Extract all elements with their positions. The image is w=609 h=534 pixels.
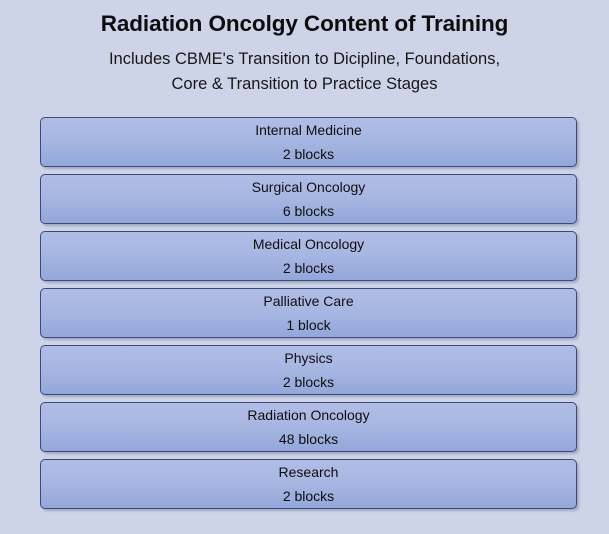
rotation-name: Radiation Oncology [247, 405, 369, 425]
rotation-bar-radiation-oncology: Radiation Oncology 48 blocks [40, 402, 577, 452]
rotation-name: Surgical Oncology [252, 177, 366, 197]
rotation-blocks: 2 blocks [283, 372, 334, 392]
rotation-blocks: 48 blocks [279, 429, 338, 449]
rotation-blocks: 1 block [286, 315, 330, 335]
subtitle-line-2: Core & Transition to Practice Stages [0, 72, 609, 97]
subtitle-line-1: Includes CBME's Transition to Dicipline,… [0, 47, 609, 72]
page-title: Radiation Oncolgy Content of Training [0, 10, 609, 38]
rotation-bar-research: Research 2 blocks [40, 459, 577, 509]
rotation-blocks: 2 blocks [283, 486, 334, 506]
rotation-name: Internal Medicine [255, 120, 362, 140]
rotation-name: Medical Oncology [253, 234, 364, 254]
rotation-bar-physics: Physics 2 blocks [40, 345, 577, 395]
rotation-bar-surgical-oncology: Surgical Oncology 6 blocks [40, 174, 577, 224]
rotation-bar-internal-medicine: Internal Medicine 2 blocks [40, 117, 577, 167]
slide-canvas: Radiation Oncolgy Content of Training In… [0, 0, 609, 534]
rotation-bar-palliative-care: Palliative Care 1 block [40, 288, 577, 338]
rotation-blocks: 6 blocks [283, 201, 334, 221]
rotation-bar-medical-oncology: Medical Oncology 2 blocks [40, 231, 577, 281]
rotation-name: Research [279, 462, 339, 482]
slide-header: Radiation Oncolgy Content of Training In… [0, 0, 609, 97]
slide-subtitle: Includes CBME's Transition to Dicipline,… [0, 47, 609, 97]
rotation-blocks: 2 blocks [283, 144, 334, 164]
rotation-name: Physics [284, 348, 332, 368]
rotation-bar-list: Internal Medicine 2 blocks Surgical Onco… [40, 117, 577, 509]
rotation-blocks: 2 blocks [283, 258, 334, 278]
rotation-name: Palliative Care [263, 291, 353, 311]
